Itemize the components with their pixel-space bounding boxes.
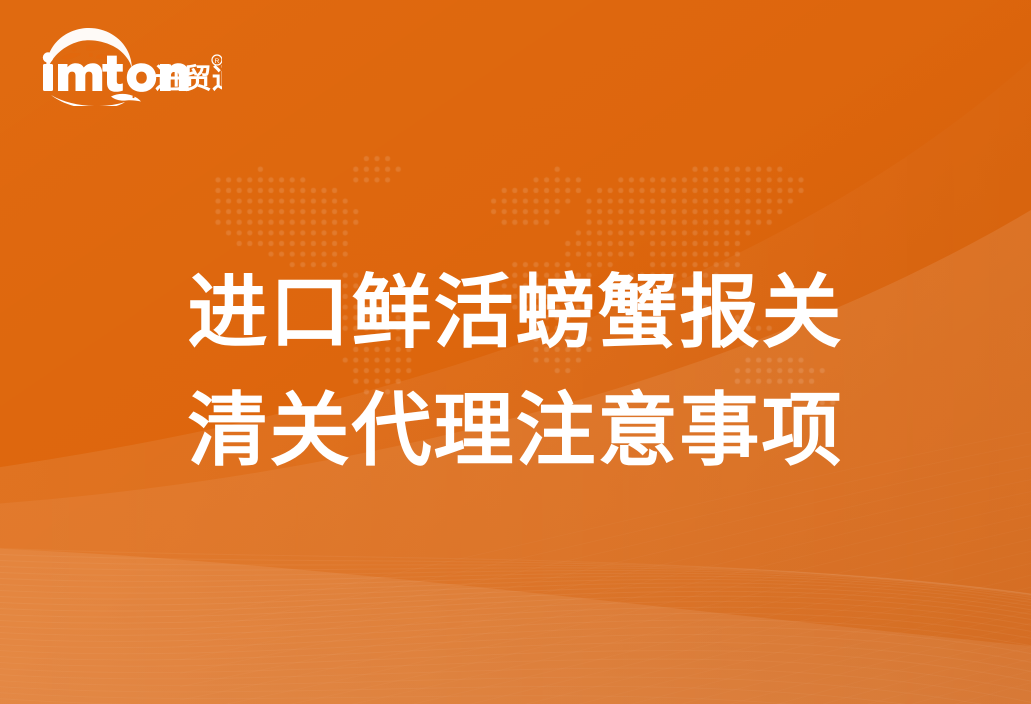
headline-line-2: 清关代理注意事项 bbox=[0, 372, 1031, 490]
wordmark-chinese: 进贸通 bbox=[155, 63, 222, 94]
swoosh-icon bbox=[51, 94, 141, 106]
registered-mark-letter: R bbox=[215, 58, 220, 65]
headline-block: 进口鲜活螃蟹报关 清关代理注意事项 bbox=[0, 254, 1031, 490]
headline-line-1: 进口鲜活螃蟹报关 bbox=[0, 254, 1031, 372]
globe-icon bbox=[46, 28, 132, 70]
wave-band-lower bbox=[0, 548, 1031, 704]
brand-chinese-text: 进贸通 bbox=[155, 63, 222, 94]
brand-logo[interactable]: 进贸通 R bbox=[37, 24, 222, 106]
poster-canvas: 进贸通 R 进口鲜活螃蟹报关 清关代理注意事项 bbox=[0, 0, 1031, 704]
